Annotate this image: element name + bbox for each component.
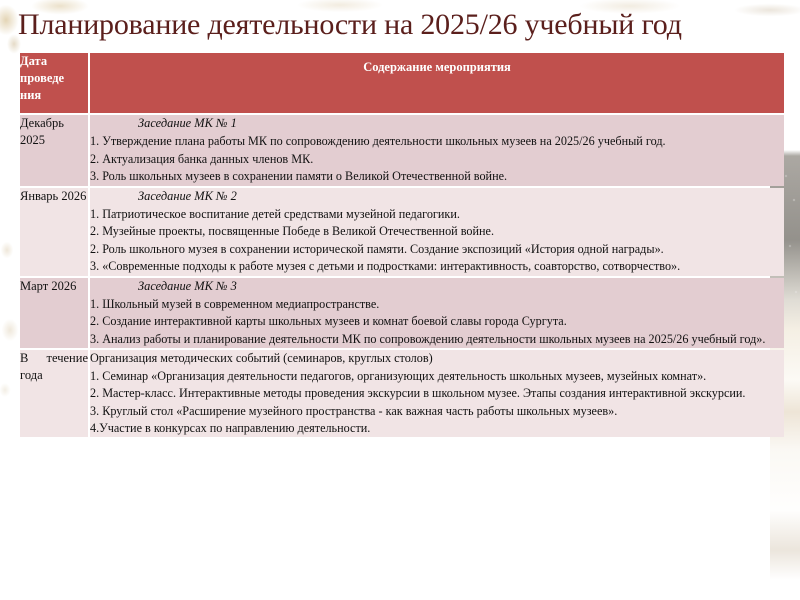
list-item: 2. Роль школьного музея в сохранении ист…: [90, 241, 784, 258]
list-item: 3. Роль школьных музеев в сохранении пам…: [90, 168, 784, 185]
row-content: Заседание МК № 3 1. Школьный музей в сов…: [90, 278, 784, 349]
column-header-content: Содержание мероприятия: [90, 53, 784, 113]
meeting-heading: Заседание МК № 2: [90, 188, 784, 205]
table-row: Март 2026 Заседание МК № 3 1. Школьный м…: [20, 278, 784, 349]
list-item: 1. Утверждение плана работы МК по сопров…: [90, 133, 784, 150]
row-content: Организация методических событий (семина…: [90, 350, 784, 437]
list-item: 1. Семинар «Организация деятельности пед…: [90, 368, 784, 385]
table-row: В течение года Организация методических …: [20, 350, 784, 437]
meeting-heading: Заседание МК № 3: [90, 278, 784, 295]
list-item: 3. «Современные подходы к работе музея с…: [90, 258, 784, 275]
row-date: Март 2026: [20, 278, 88, 349]
table-header-row: Дата проведе ния Содержание мероприятия: [20, 53, 784, 113]
table-body: Декабрь 2025 Заседание МК № 1 1. Утвержд…: [20, 115, 784, 437]
table-row: Январь 2026 Заседание МК № 2 1. Патриоти…: [20, 188, 784, 276]
row-date: Январь 2026: [20, 188, 88, 276]
section-heading: Организация методических событий (семина…: [90, 350, 784, 367]
list-item: 2. Создание интерактивной карты школьных…: [90, 313, 784, 330]
row-content: Заседание МК № 2 1. Патриотическое воспи…: [90, 188, 784, 276]
list-item: 2. Мастер-класс. Интерактивные методы пр…: [90, 385, 784, 402]
meeting-heading: Заседание МК № 1: [90, 115, 784, 132]
row-content: Заседание МК № 1 1. Утверждение плана ра…: [90, 115, 784, 186]
page-title: Планирование деятельности на 2025/26 уче…: [18, 5, 788, 45]
column-header-date: Дата проведе ния: [20, 53, 88, 113]
list-item: 1. Патриотическое воспитание детей средс…: [90, 206, 784, 223]
table-row: Декабрь 2025 Заседание МК № 1 1. Утвержд…: [20, 115, 784, 186]
list-item: 2. Актуализация банка данных членов МК.: [90, 151, 784, 168]
list-item: 3. Анализ работы и планирование деятельн…: [90, 331, 784, 348]
list-item: 4.Участие в конкурсах по направлению дея…: [90, 420, 784, 437]
list-item: 1. Школьный музей в современном медиапро…: [90, 296, 784, 313]
planning-table: Дата проведе ния Содержание мероприятия …: [18, 51, 786, 439]
list-item: 3. Круглый стол «Расширение музейного пр…: [90, 403, 784, 420]
row-date: В течение года: [20, 350, 88, 437]
list-item: 2. Музейные проекты, посвященные Победе …: [90, 223, 784, 240]
row-date: Декабрь 2025: [20, 115, 88, 186]
